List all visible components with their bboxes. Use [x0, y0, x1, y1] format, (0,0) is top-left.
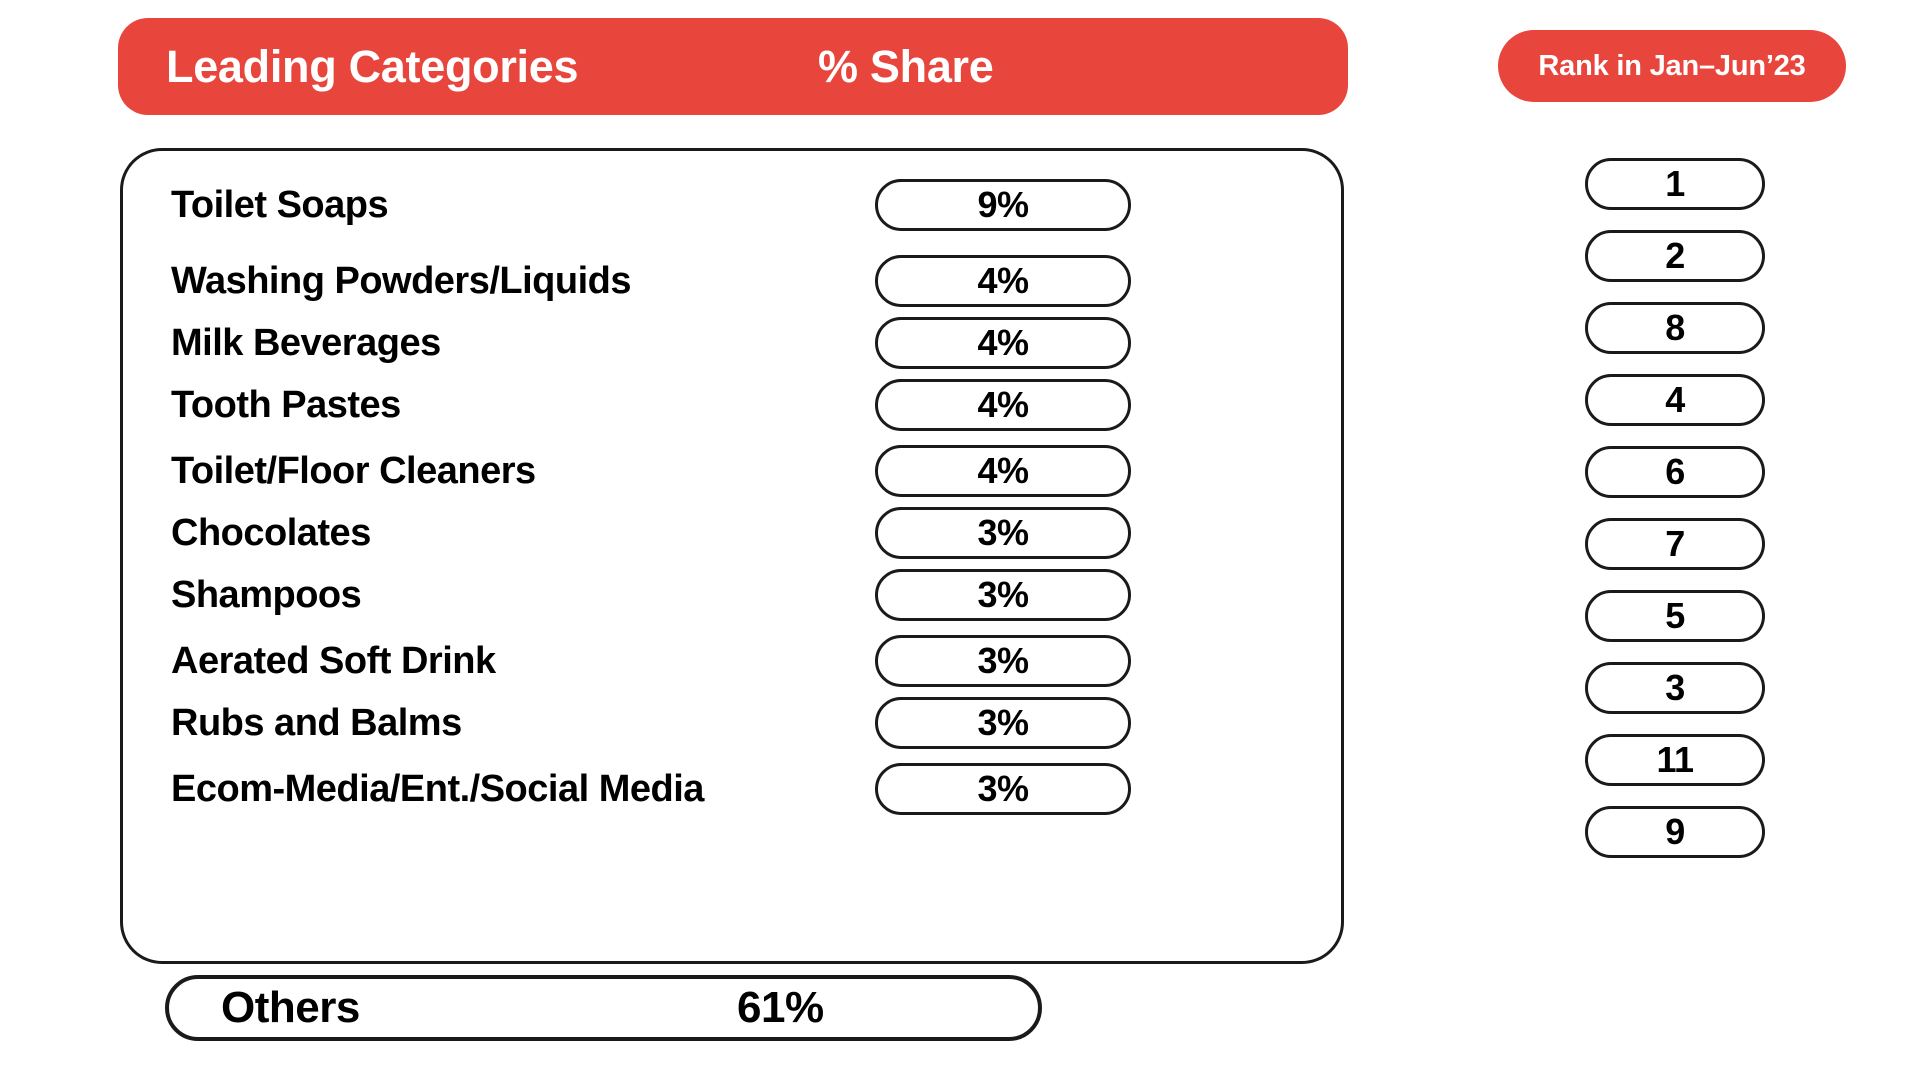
category-label: Aerated Soft Drink: [171, 635, 496, 687]
share-value: 4%: [977, 263, 1028, 299]
rank-pill: 6: [1585, 446, 1765, 498]
rank-value: 4: [1665, 382, 1685, 418]
share-pill: 3%: [875, 635, 1131, 687]
rank-value: 9: [1665, 814, 1685, 850]
rank-value: 7: [1665, 526, 1685, 562]
table-row: Tooth Pastes4%: [123, 379, 1341, 431]
share-pill: 4%: [875, 255, 1131, 307]
share-value: 3%: [977, 515, 1028, 551]
category-label: Ecom-Media/Ent./Social Media: [171, 763, 704, 815]
table-row: Ecom-Media/Ent./Social Media3%: [123, 763, 1341, 815]
table-row: Rubs and Balms3%: [123, 697, 1341, 749]
table-row: Washing Powders/Liquids4%: [123, 255, 1341, 307]
rank-value: 8: [1665, 310, 1685, 346]
table-row: Chocolates3%: [123, 507, 1341, 559]
rank-value: 11: [1656, 742, 1693, 778]
categories-card: Toilet Soaps9%Washing Powders/Liquids4%M…: [120, 148, 1344, 964]
rank-pill: 7: [1585, 518, 1765, 570]
others-label: Others: [221, 979, 360, 1037]
rank-pill: 8: [1585, 302, 1765, 354]
share-value: 4%: [977, 453, 1028, 489]
share-value: 3%: [977, 705, 1028, 741]
table-row: Toilet/Floor Cleaners4%: [123, 445, 1341, 497]
rank-column-header-badge: Rank in Jan–Jun’23: [1498, 30, 1846, 102]
table-row: Shampoos3%: [123, 569, 1341, 621]
category-label: Toilet Soaps: [171, 179, 388, 231]
rank-pill: 2: [1585, 230, 1765, 282]
share-value: 3%: [977, 577, 1028, 613]
rank-column-header-label: Rank in Jan–Jun’23: [1538, 50, 1805, 83]
category-label: Milk Beverages: [171, 317, 441, 369]
others-row: Others 61%: [165, 975, 1042, 1041]
category-label: Tooth Pastes: [171, 379, 401, 431]
rank-pill: 9: [1585, 806, 1765, 858]
table-row: Milk Beverages4%: [123, 317, 1341, 369]
table-row: Aerated Soft Drink3%: [123, 635, 1341, 687]
rank-value: 6: [1665, 454, 1685, 490]
rank-pill: 4: [1585, 374, 1765, 426]
table-row: Toilet Soaps9%: [123, 179, 1341, 231]
share-pill: 4%: [875, 445, 1131, 497]
share-pill: 3%: [875, 697, 1131, 749]
category-label: Rubs and Balms: [171, 697, 462, 749]
category-label: Shampoos: [171, 569, 361, 621]
rank-value: 5: [1665, 598, 1685, 634]
share-value: 4%: [977, 325, 1028, 361]
share-value: 3%: [977, 771, 1028, 807]
share-pill: 3%: [875, 507, 1131, 559]
rank-pill: 11: [1585, 734, 1765, 786]
page-title: Leading Categories: [166, 41, 578, 93]
share-value: 3%: [977, 643, 1028, 679]
share-pill: 4%: [875, 379, 1131, 431]
header-bar: Leading Categories % Share: [118, 18, 1348, 115]
category-label: Chocolates: [171, 507, 371, 559]
rank-pill: 3: [1585, 662, 1765, 714]
share-column-header: % Share: [818, 41, 993, 93]
share-value: 9%: [977, 187, 1028, 223]
rank-value: 2: [1665, 238, 1685, 274]
rank-value: 3: [1665, 670, 1685, 706]
share-pill: 9%: [875, 179, 1131, 231]
rank-pill: 1: [1585, 158, 1765, 210]
category-label: Toilet/Floor Cleaners: [171, 445, 536, 497]
share-pill: 3%: [875, 763, 1131, 815]
others-share-value: 61%: [737, 979, 824, 1037]
share-value: 4%: [977, 387, 1028, 423]
category-label: Washing Powders/Liquids: [171, 255, 631, 307]
rank-pill: 5: [1585, 590, 1765, 642]
share-pill: 4%: [875, 317, 1131, 369]
share-pill: 3%: [875, 569, 1131, 621]
rank-value: 1: [1665, 166, 1685, 202]
